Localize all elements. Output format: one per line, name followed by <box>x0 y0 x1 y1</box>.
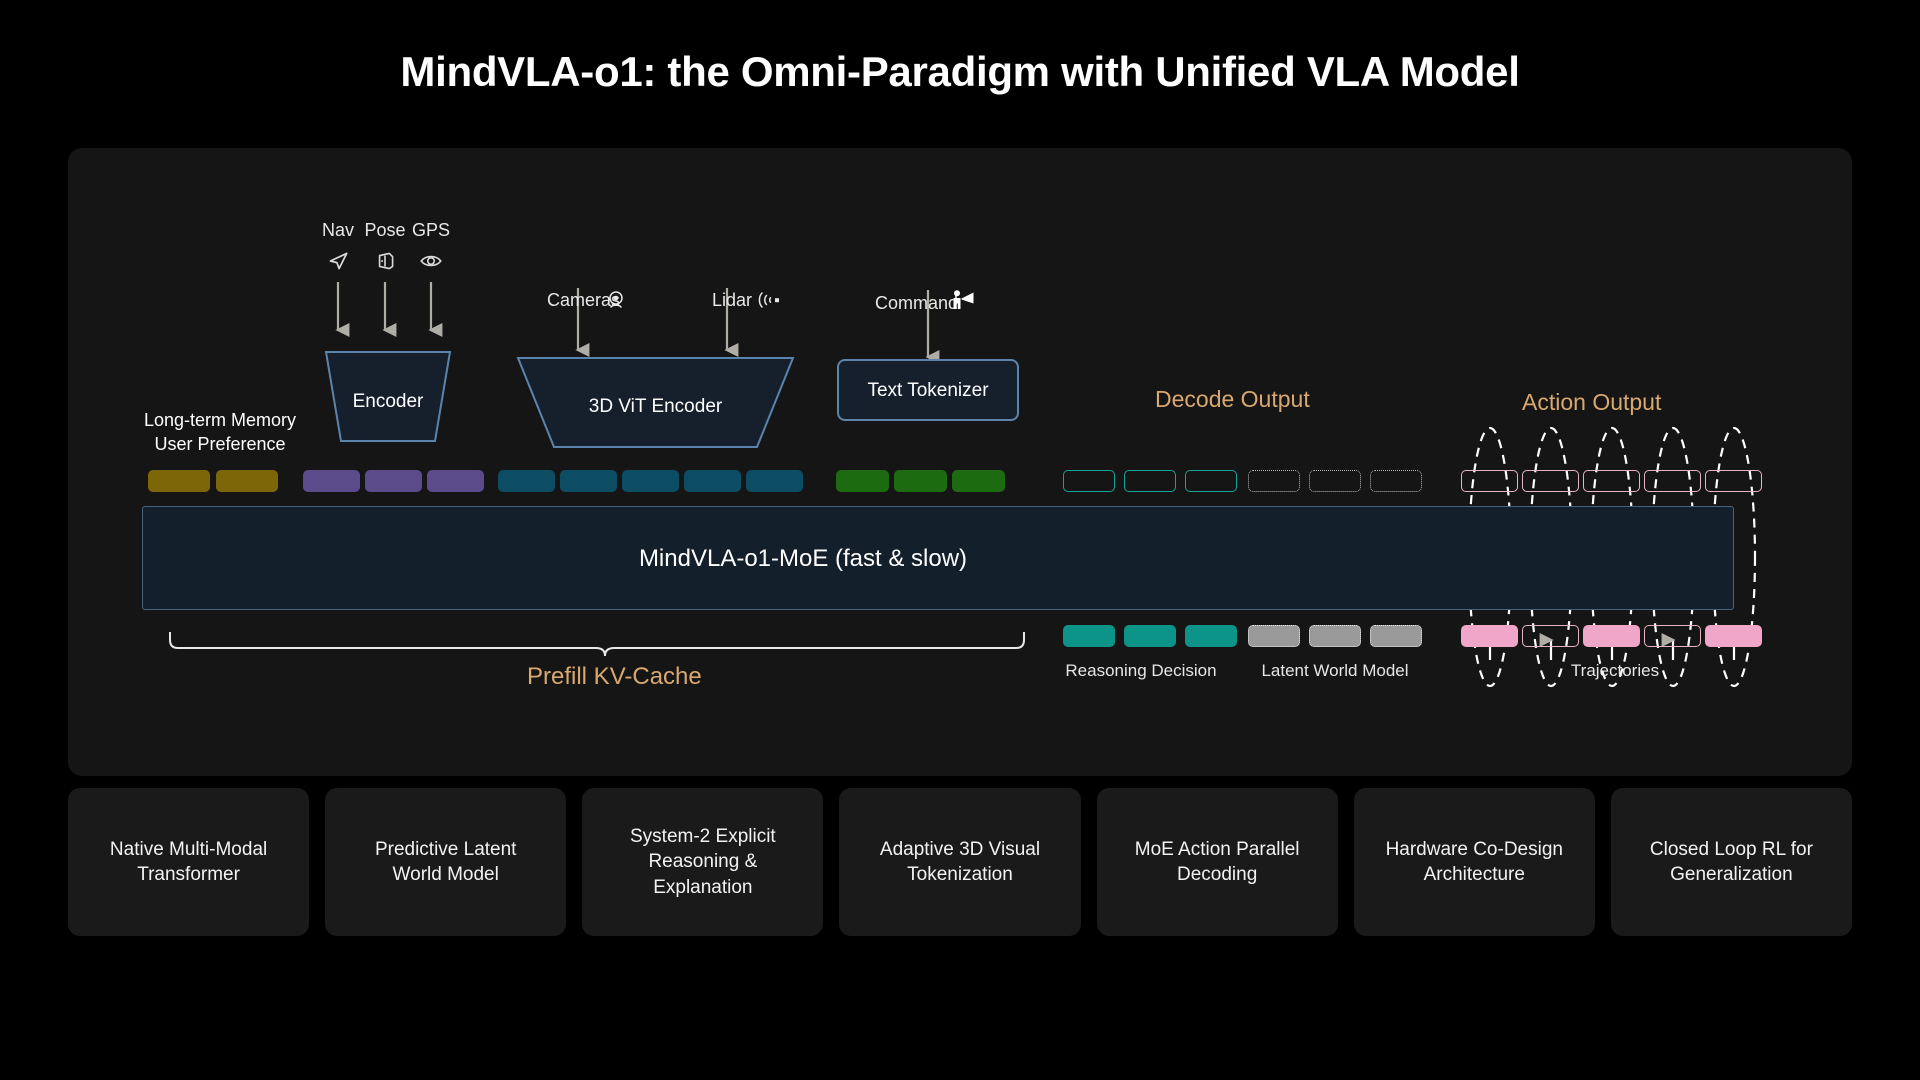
token-vision <box>684 470 741 492</box>
token-memory <box>216 470 278 492</box>
token-vision <box>498 470 555 492</box>
token-action-fill <box>1705 625 1762 647</box>
feature-card[interactable]: Predictive Latent World Model <box>325 788 566 936</box>
feature-card-label: Predictive Latent World Model <box>375 837 517 888</box>
token-latent-outline <box>1370 470 1422 492</box>
token-nav <box>303 470 360 492</box>
lidar-signal-icon <box>757 288 783 317</box>
token-vision <box>746 470 803 492</box>
token-action-outline <box>1644 625 1701 647</box>
eye-icon <box>418 248 444 279</box>
feature-card[interactable]: System-2 Explicit Reasoning & Explanatio… <box>582 788 823 936</box>
feature-cards-row: Native Multi-Modal Transformer Predictiv… <box>68 788 1852 936</box>
encoder-label-vit: 3D ViT Encoder <box>518 396 793 418</box>
megaphone-person-icon <box>951 288 977 317</box>
token-action-outline <box>1644 470 1701 492</box>
feature-card-label: System-2 Explicit Reasoning & Explanatio… <box>630 824 776 900</box>
slide-root: MindVLA-o1: the Omni-Paradigm with Unifi… <box>0 0 1920 1080</box>
token-reasoning-outline <box>1063 470 1115 492</box>
token-text <box>894 470 947 492</box>
feature-card-label: Hardware Co-Design Architecture <box>1386 837 1563 888</box>
feature-card[interactable]: Adaptive 3D Visual Tokenization <box>839 788 1080 936</box>
feature-card[interactable]: MoE Action Parallel Decoding <box>1097 788 1338 936</box>
token-vision <box>560 470 617 492</box>
token-memory <box>148 470 210 492</box>
feature-card[interactable]: Native Multi-Modal Transformer <box>68 788 309 936</box>
moe-model-bar[interactable]: MindVLA-o1-MoE (fast & slow) <box>142 506 1734 610</box>
memory-caption-line1: Long-term Memory <box>120 409 320 433</box>
feature-card-label: MoE Action Parallel Decoding <box>1135 837 1300 888</box>
long-term-memory-caption: Long-term Memory User Preference <box>120 409 320 457</box>
token-reasoning-fill <box>1185 625 1237 647</box>
trajectories-caption: Trajectories <box>1545 661 1685 681</box>
sensor-label-lidar: Lidar <box>672 290 752 311</box>
navigation-arrow-icon <box>325 248 351 279</box>
token-reasoning-fill <box>1063 625 1115 647</box>
token-latent-outline <box>1309 470 1361 492</box>
token-reasoning-outline <box>1185 470 1237 492</box>
token-reasoning-fill <box>1124 625 1176 647</box>
token-action-outline <box>1705 470 1762 492</box>
decode-output-header: Decode Output <box>1155 386 1310 413</box>
encoder-label-text: Text Tokenizer <box>838 380 1018 402</box>
token-action-outline <box>1461 470 1518 492</box>
encoder-label-nav: Encoder <box>326 391 450 413</box>
architecture-diagram-panel <box>68 148 1852 776</box>
token-reasoning-outline <box>1124 470 1176 492</box>
feature-card-label: Native Multi-Modal Transformer <box>110 837 267 888</box>
page-title: MindVLA-o1: the Omni-Paradigm with Unifi… <box>0 48 1920 96</box>
sensor-label-command: Command <box>838 293 958 314</box>
latent-world-model-caption: Latent World Model <box>1243 661 1427 681</box>
camera-icon <box>604 288 628 317</box>
sensor-label-gps: GPS <box>401 220 461 241</box>
reasoning-decision-caption: Reasoning Decision <box>1055 661 1227 681</box>
memory-caption-line2: User Preference <box>120 433 320 457</box>
token-nav <box>427 470 484 492</box>
token-latent-outline <box>1248 470 1300 492</box>
token-action-outline <box>1522 625 1579 647</box>
token-latent-fill <box>1309 625 1361 647</box>
moe-model-label: MindVLA-o1-MoE (fast & slow) <box>143 545 1463 573</box>
token-action-fill <box>1583 625 1640 647</box>
feature-card[interactable]: Hardware Co-Design Architecture <box>1354 788 1595 936</box>
prefill-kv-cache-label: Prefill KV-Cache <box>527 663 702 691</box>
token-text <box>836 470 889 492</box>
token-action-outline <box>1522 470 1579 492</box>
token-nav <box>365 470 422 492</box>
feature-card-label: Adaptive 3D Visual Tokenization <box>880 837 1040 888</box>
feature-card[interactable]: Closed Loop RL for Generalization <box>1611 788 1852 936</box>
token-latent-fill <box>1248 625 1300 647</box>
pose-device-icon <box>372 248 398 279</box>
token-latent-fill <box>1370 625 1422 647</box>
token-text <box>952 470 1005 492</box>
token-action-fill <box>1461 625 1518 647</box>
token-action-outline <box>1583 470 1640 492</box>
action-output-header: Action Output <box>1522 389 1661 416</box>
feature-card-label: Closed Loop RL for Generalization <box>1650 837 1813 888</box>
token-vision <box>622 470 679 492</box>
